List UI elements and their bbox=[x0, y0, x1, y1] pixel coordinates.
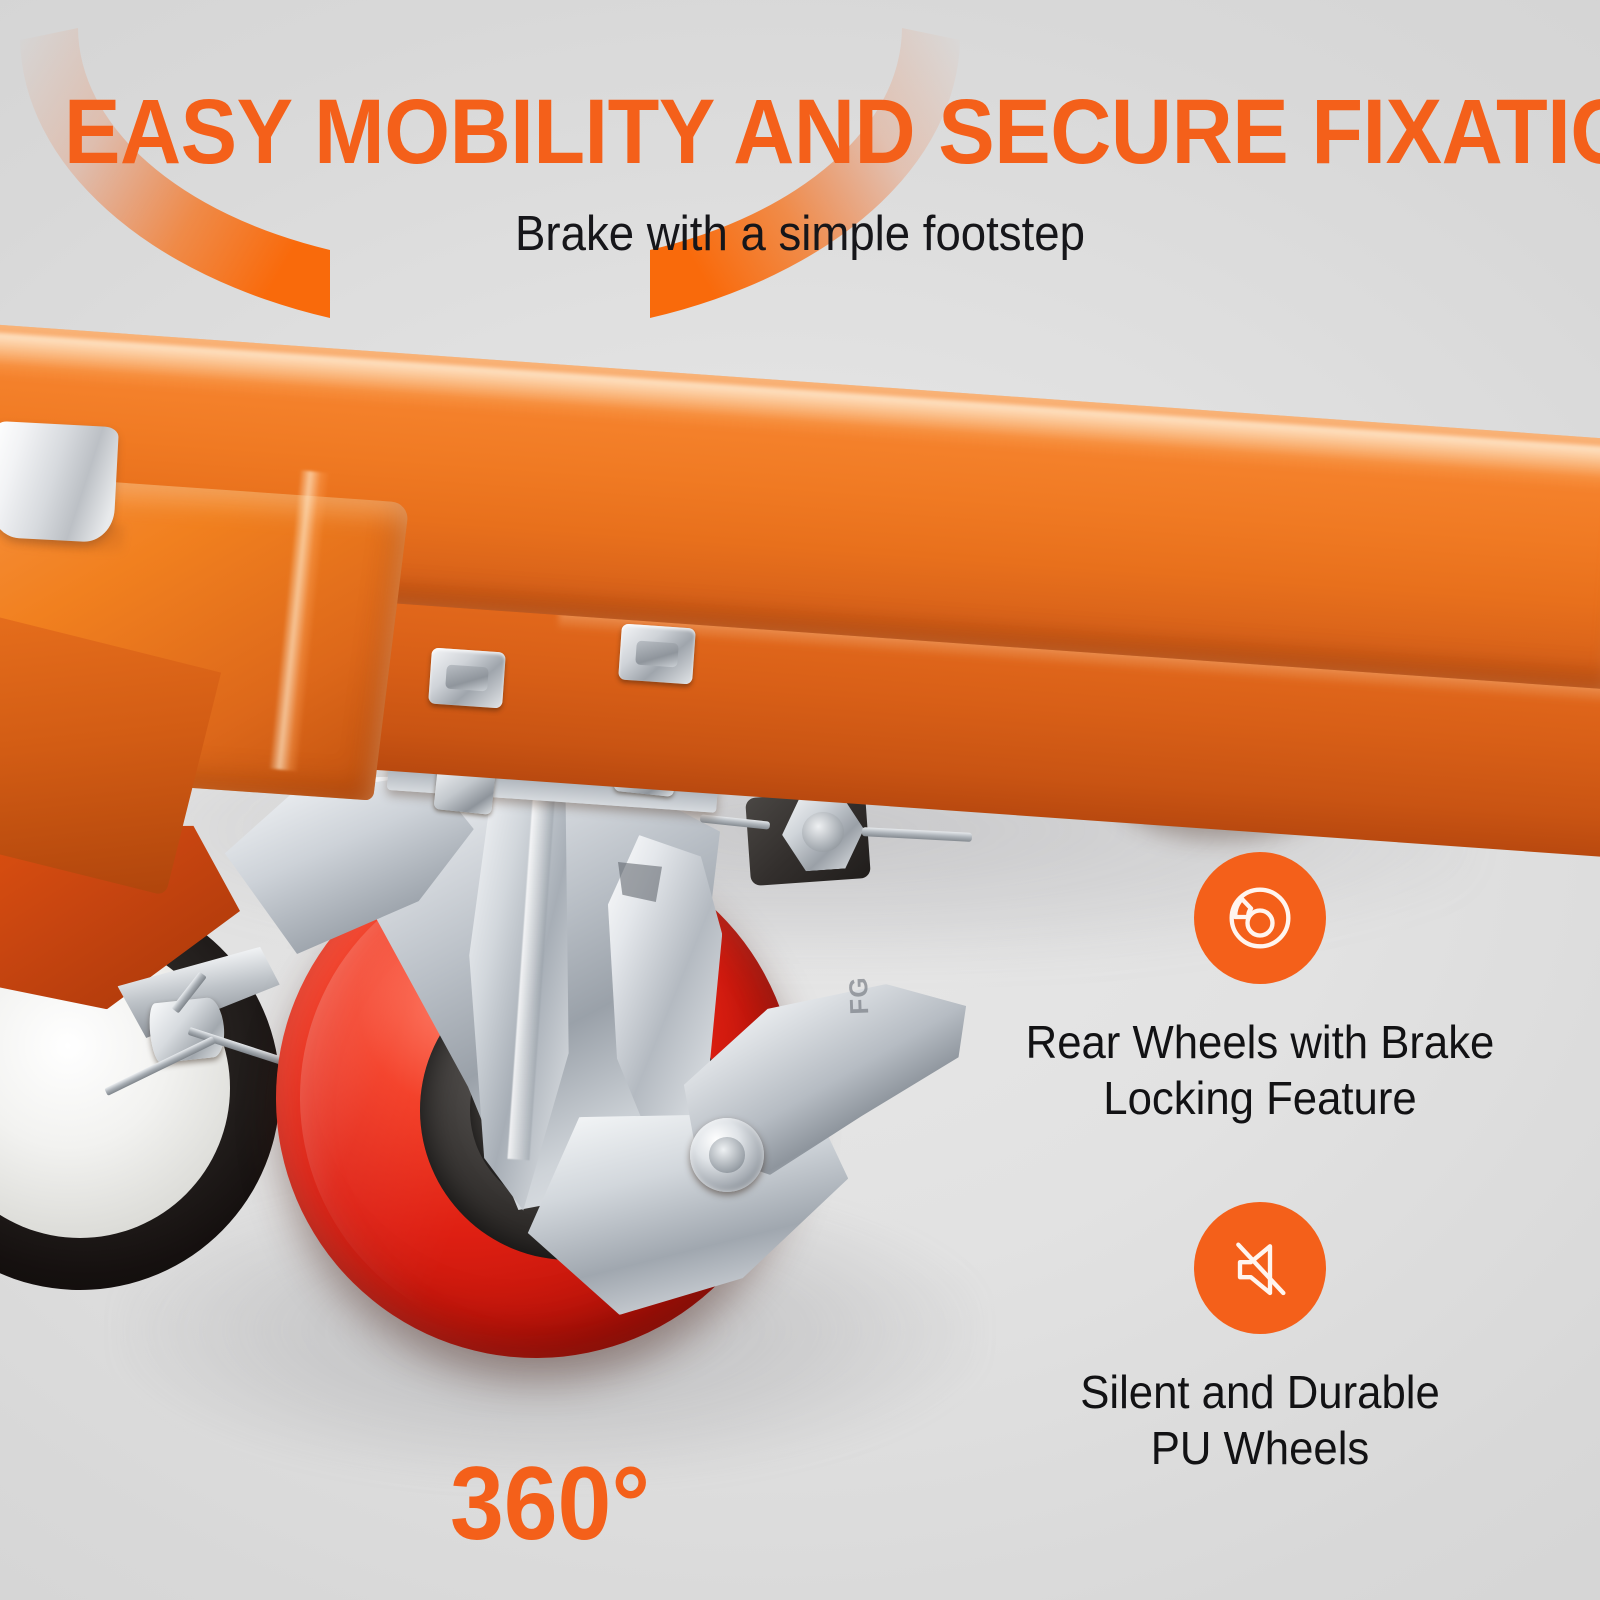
silver-post bbox=[0, 421, 119, 543]
feature-label-silent-wheels: Silent and Durable PU Wheels bbox=[975, 1364, 1545, 1476]
feature-item-silent-wheels: Silent and Durable PU Wheels bbox=[960, 1202, 1560, 1476]
rotation-degrees-label: 360° bbox=[429, 1452, 671, 1556]
brake-lever-marking: FG bbox=[843, 976, 875, 1015]
brake-pivot-bolt bbox=[690, 1118, 764, 1192]
page-subtitle: Brake with a simple footstep bbox=[56, 208, 1544, 262]
brake-disc-icon bbox=[1194, 852, 1326, 984]
frame-hex-bolt-2 bbox=[618, 623, 696, 684]
muted-speaker-icon bbox=[1194, 1202, 1326, 1334]
feature-label-brake-lock: Rear Wheels with Brake Locking Feature bbox=[975, 1014, 1545, 1126]
product-feature-poster: FG EASY MOBILITY AND SECURE FIXATION Bra… bbox=[0, 0, 1600, 1600]
frame-hex-bolt-1 bbox=[428, 647, 506, 708]
page-title: EASY MOBILITY AND SECURE FIXATION bbox=[64, 86, 1536, 178]
feature-item-brake-lock: Rear Wheels with Brake Locking Feature bbox=[960, 852, 1560, 1126]
